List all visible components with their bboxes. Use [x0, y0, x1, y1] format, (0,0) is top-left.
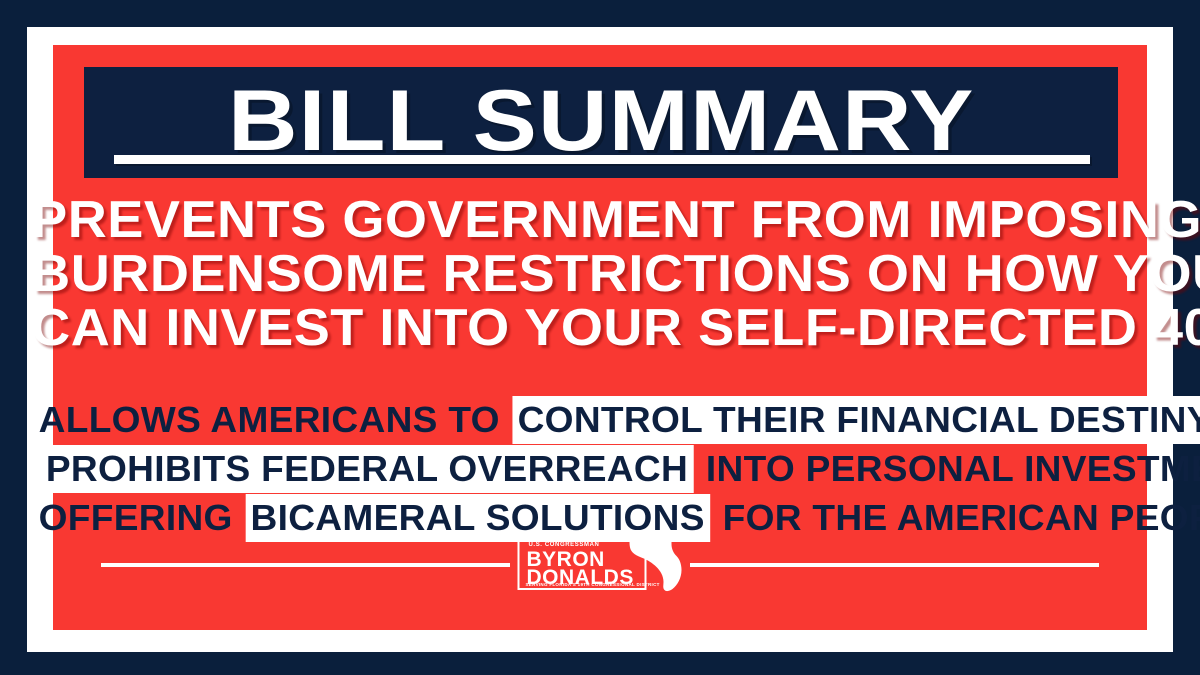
subline-1-highlight: CONTROL THEIR FINANCIAL DESTINY: [512, 396, 1200, 444]
divider-rule-right: [690, 563, 1099, 567]
headline-line-2: BURDENSOME RESTRICTIONS ON HOW YOU: [31, 247, 1169, 301]
subline-2-highlight: PROHIBITS FEDERAL OVERREACH: [41, 445, 694, 493]
divider-rule-left: [101, 563, 510, 567]
footer-area: U.S. CONGRESSMAN BYRON DONALDS SERVING F…: [53, 520, 1147, 600]
subline-2: PROHIBITS FEDERAL OVERREACH INTO PERSONA…: [37, 444, 1164, 493]
subline-1-pre: ALLOWS AMERICANS TO: [37, 396, 513, 444]
title-underline-rule: [114, 155, 1090, 164]
bill-summary-graphic: BILL SUMMARY PREVENTS GOVERNMENT FROM IM…: [0, 0, 1200, 675]
red-content-panel: BILL SUMMARY PREVENTS GOVERNMENT FROM IM…: [53, 45, 1147, 630]
subline-1: ALLOWS AMERICANS TO CONTROL THEIR FINANC…: [37, 395, 1164, 444]
title-banner: BILL SUMMARY: [84, 67, 1118, 178]
subline-2-post: INTO PERSONAL INVESTMENTS: [693, 445, 1200, 493]
headline-line-3: CAN INVEST INTO YOUR SELF-DIRECTED 401K: [31, 301, 1169, 355]
page-title: BILL SUMMARY: [228, 78, 975, 164]
byron-donalds-logo: U.S. CONGRESSMAN BYRON DONALDS SERVING F…: [518, 528, 683, 594]
headline-block: PREVENTS GOVERNMENT FROM IMPOSING BURDEN…: [53, 193, 1147, 355]
headline-line-1: PREVENTS GOVERNMENT FROM IMPOSING: [31, 193, 1169, 247]
florida-outline-icon: [629, 528, 683, 594]
